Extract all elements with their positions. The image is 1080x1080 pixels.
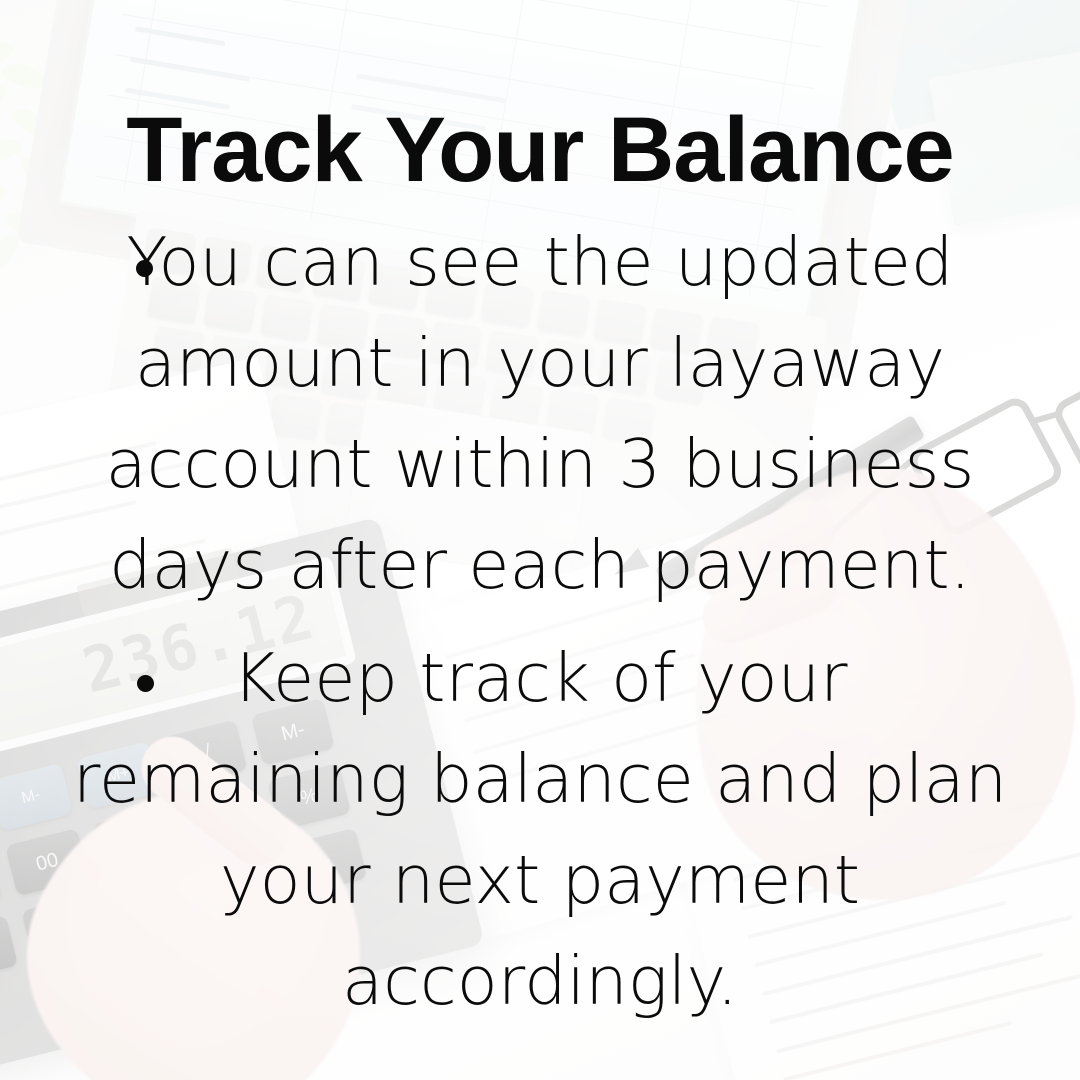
- list-item-text: Keep track of your remaining balance and…: [0, 628, 1080, 1032]
- poster-canvas: 236.12 MRC M- M+ √ M- OFF 00 7 8 %: [0, 0, 1080, 1080]
- bullet-dot-icon: [137, 675, 154, 692]
- bullet-dot-icon: [136, 260, 153, 277]
- list-item: Keep track of your remaining balance and…: [0, 628, 1080, 1032]
- poster-content: Track Your Balance You can see the updat…: [0, 0, 1080, 1080]
- bullet-list: You can see the updated amount in your l…: [0, 212, 1080, 1042]
- list-item: You can see the updated amount in your l…: [0, 212, 1080, 616]
- page-title: Track Your Balance: [0, 104, 1080, 196]
- list-item-text: You can see the updated amount in your l…: [0, 212, 1080, 616]
